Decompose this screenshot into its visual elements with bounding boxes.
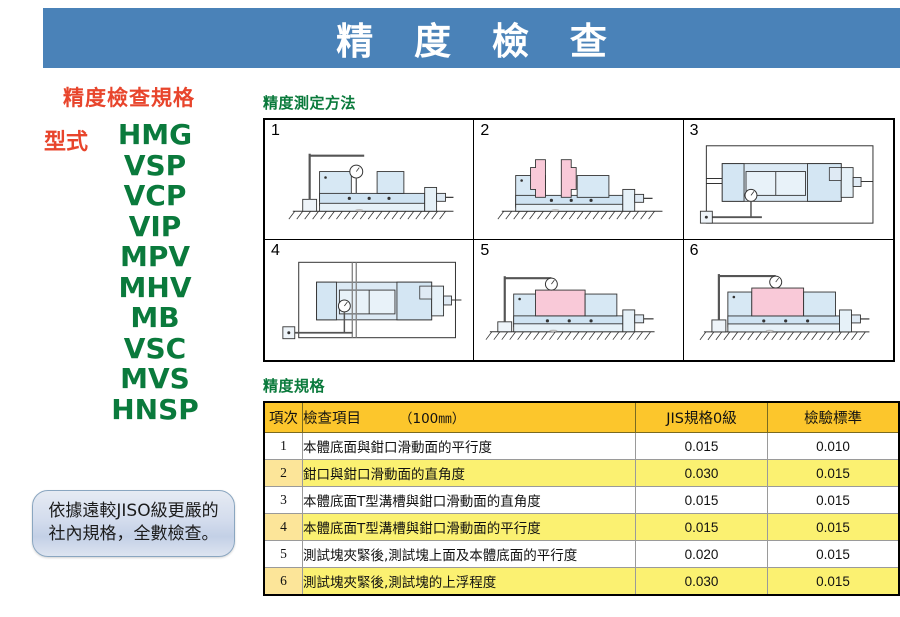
header-index: 項次 <box>264 402 303 433</box>
header-standard: 檢驗標準 <box>768 402 900 433</box>
diagram-cell: 3 <box>684 120 893 240</box>
model-block: 型式 HMG VSP VCP VIP MPV MHV MB VSC MVS HN… <box>0 120 258 425</box>
row-jis: 0.015 <box>636 514 768 541</box>
diagram-number: 6 <box>690 242 699 260</box>
row-standard: 0.015 <box>768 541 900 568</box>
row-item: 本體底面T型溝槽與鉗口滑動面的平行度 <box>303 514 636 541</box>
diagram-cell: 2 <box>474 120 683 240</box>
diagram-number: 4 <box>271 242 280 260</box>
note-line: 社內規格，全數檢查。 <box>40 523 227 546</box>
row-index: 2 <box>264 460 303 487</box>
row-index: 1 <box>264 433 303 460</box>
diagram-grid: 1 <box>263 118 895 362</box>
model-item: VIP <box>129 212 182 243</box>
spec-heading: 精度檢查規格 <box>0 82 258 112</box>
row-item: 測試塊夾緊後,測試塊上面及本體底面的平行度 <box>303 541 636 568</box>
model-type-label: 型式 <box>44 120 96 425</box>
row-item: 鉗口與鉗口滑動面的直角度 <box>303 460 636 487</box>
diagram-cell: 5 <box>474 240 683 360</box>
model-item: MB <box>130 303 179 334</box>
row-item: 測試塊夾緊後,測試塊的上浮程度 <box>303 568 636 596</box>
header-item-label: 檢查項目 <box>303 411 361 427</box>
note-callout-box: 依據遠較JISO級更嚴的 社內規格，全數檢查。 <box>32 490 235 557</box>
page-header-bar: 精 度 檢 查 <box>43 8 900 68</box>
accuracy-spec-table: 項次 檢查項目（100㎜） JIS規格0級 檢驗標準 1 本體底面與鉗口滑動面的… <box>263 401 900 596</box>
header-item-sub: （100㎜） <box>361 411 465 427</box>
sidebar: 精度檢查規格 型式 HMG VSP VCP VIP MPV MHV MB VSC… <box>0 78 258 608</box>
main-panel: 精度測定方法 1 <box>263 92 897 596</box>
header-jis: JIS規格0級 <box>636 402 768 433</box>
row-item: 本體底面T型溝槽與鉗口滑動面的直角度 <box>303 487 636 514</box>
row-index: 5 <box>264 541 303 568</box>
measurement-methods-title: 精度測定方法 <box>263 92 897 113</box>
table-row: 4 本體底面T型溝槽與鉗口滑動面的平行度 0.015 0.015 <box>264 514 899 541</box>
row-jis: 0.030 <box>636 460 768 487</box>
diagram-cell: 6 <box>684 240 893 360</box>
model-item: MVS <box>120 364 190 395</box>
model-item: MPV <box>120 242 190 273</box>
row-jis: 0.030 <box>636 568 768 596</box>
diagram-number: 5 <box>480 242 489 260</box>
diagram-number: 3 <box>690 122 699 140</box>
model-item: MHV <box>119 273 192 304</box>
header-item: 檢查項目（100㎜） <box>303 402 636 433</box>
model-list: HMG VSP VCP VIP MPV MHV MB VSC MVS HNSP <box>96 120 214 425</box>
row-index: 4 <box>264 514 303 541</box>
row-standard: 0.010 <box>768 433 900 460</box>
model-item: VCP <box>124 181 187 212</box>
row-jis: 0.015 <box>636 487 768 514</box>
table-row: 2 鉗口與鉗口滑動面的直角度 0.030 0.015 <box>264 460 899 487</box>
table-row: 3 本體底面T型溝槽與鉗口滑動面的直角度 0.015 0.015 <box>264 487 899 514</box>
table-row: 6 測試塊夾緊後,測試塊的上浮程度 0.030 0.015 <box>264 568 899 596</box>
vise-top-view-diagram <box>684 120 893 239</box>
model-item: HMG <box>118 120 192 151</box>
row-index: 3 <box>264 487 303 514</box>
model-item: VSC <box>124 334 186 365</box>
page-title: 精 度 檢 查 <box>43 8 900 68</box>
row-standard: 0.015 <box>768 460 900 487</box>
spec-table-title: 精度規格 <box>263 375 897 396</box>
row-item: 本體底面與鉗口滑動面的平行度 <box>303 433 636 460</box>
row-jis: 0.015 <box>636 433 768 460</box>
table-row: 5 測試塊夾緊後,測試塊上面及本體底面的平行度 0.020 0.015 <box>264 541 899 568</box>
diagram-cell: 4 <box>265 240 474 360</box>
table-header-row: 項次 檢查項目（100㎜） JIS規格0級 檢驗標準 <box>264 402 899 433</box>
model-item: VSP <box>124 151 186 182</box>
vise-side-view-diagram <box>265 120 473 239</box>
vise-jaw-squareness-diagram <box>474 120 682 239</box>
diagram-cell: 1 <box>265 120 474 240</box>
diagram-number: 1 <box>271 122 280 140</box>
row-jis: 0.020 <box>636 541 768 568</box>
row-standard: 0.015 <box>768 514 900 541</box>
diagram-number: 2 <box>480 122 489 140</box>
test-block-lift-diagram <box>684 240 893 360</box>
table-row: 1 本體底面與鉗口滑動面的平行度 0.015 0.010 <box>264 433 899 460</box>
note-line: 依據遠較JISO級更嚴的 <box>40 500 227 523</box>
model-item: HNSP <box>111 395 199 426</box>
test-block-parallelism-diagram <box>474 240 682 360</box>
row-index: 6 <box>264 568 303 596</box>
vise-top-view-parallel-diagram <box>265 240 473 360</box>
row-standard: 0.015 <box>768 487 900 514</box>
row-standard: 0.015 <box>768 568 900 596</box>
